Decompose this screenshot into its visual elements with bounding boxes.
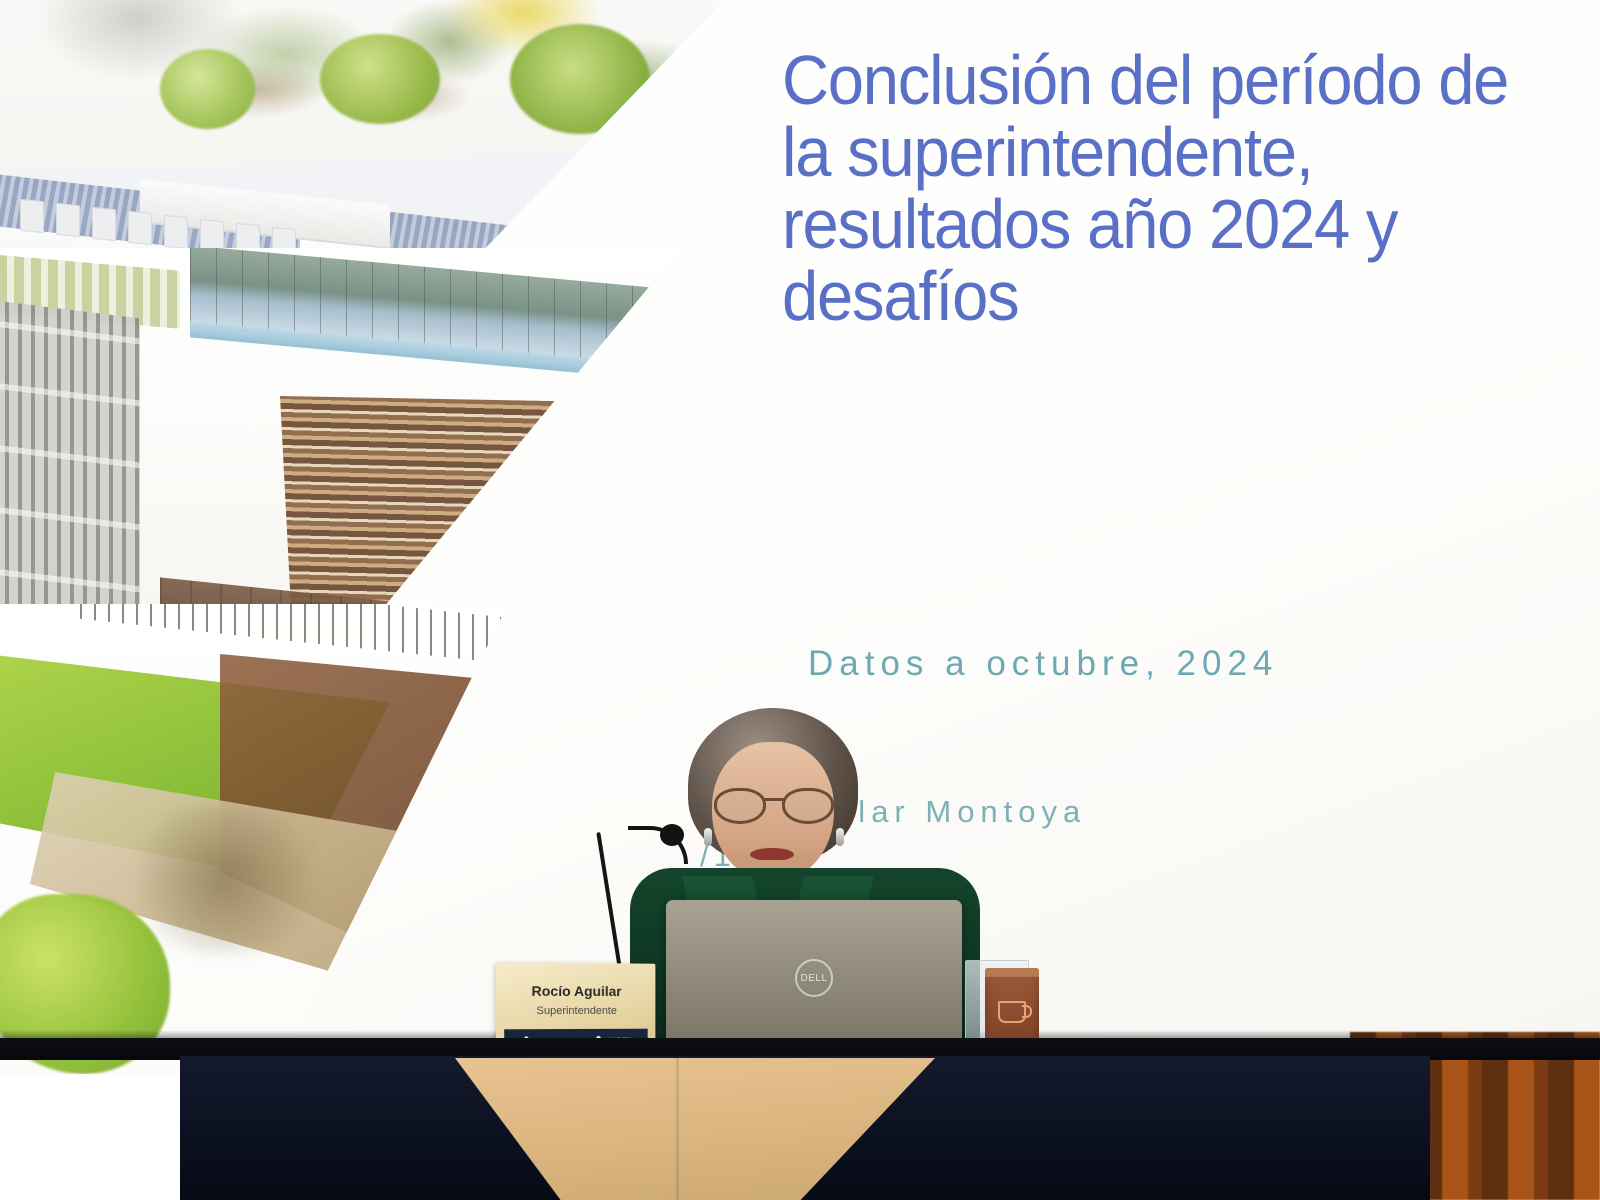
laptop: DELL xyxy=(666,900,962,1050)
tree-cluster xyxy=(320,34,440,124)
balcony-railing xyxy=(80,604,560,669)
slide-title: Conclusión del período de la superintend… xyxy=(782,44,1526,332)
lens-left xyxy=(714,788,766,824)
rooftop-unit xyxy=(56,203,80,238)
rooftop-unit xyxy=(164,215,188,250)
rooftop-unit xyxy=(20,199,44,234)
earring xyxy=(704,828,712,846)
presentation-photo: Conclusión del período de la superintend… xyxy=(0,0,1600,1200)
nameplate-name: Rocío Aguilar xyxy=(496,983,655,1000)
eyeglasses-icon xyxy=(712,788,836,818)
building-side-facade xyxy=(0,298,140,648)
slide-subtitle: Datos a octubre, 2024 xyxy=(808,644,1278,684)
glass-curtain-wall xyxy=(190,248,710,377)
nameplate-role: Superintendente xyxy=(496,1005,655,1017)
dell-logo-icon: DELL xyxy=(795,959,833,997)
tree-cluster xyxy=(160,49,255,129)
conference-table xyxy=(0,1038,1600,1200)
coffee-cup-icon xyxy=(998,1001,1026,1023)
rooftop-unit xyxy=(128,211,152,246)
earring xyxy=(836,828,844,846)
glasses-bridge xyxy=(762,798,786,801)
collage-photo-modern-building xyxy=(0,248,710,648)
microphone-icon xyxy=(660,824,684,846)
lens-right xyxy=(782,788,834,824)
tree-cluster xyxy=(510,24,650,134)
window xyxy=(500,623,520,645)
rooftop-unit xyxy=(92,207,116,242)
